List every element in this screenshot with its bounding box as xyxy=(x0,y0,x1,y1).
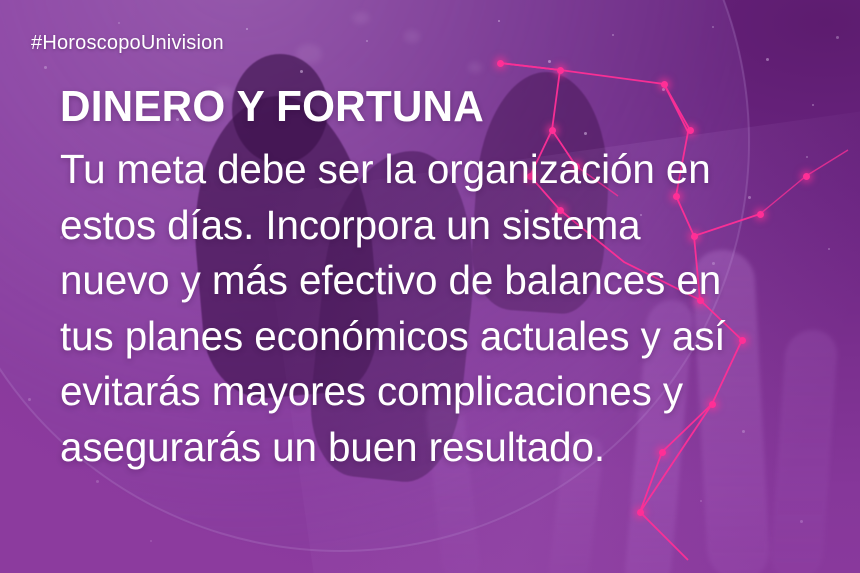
body-line: tus planes económicos actuales y así xyxy=(60,309,838,365)
horoscope-card: #HoroscopoUnivision DINERO Y FORTUNA Tu … xyxy=(0,0,860,573)
page-title: DINERO Y FORTUNA xyxy=(60,83,484,131)
body-line: Tu meta debe ser la organización en xyxy=(60,142,838,198)
body-line: estos días. Incorpora un sistema xyxy=(60,198,838,254)
body-line: nuevo y más efectivo de balances en xyxy=(60,253,838,309)
hashtag-label: #HoroscopoUnivision xyxy=(31,32,224,55)
text-content: #HoroscopoUnivision DINERO Y FORTUNA Tu … xyxy=(0,0,860,573)
horoscope-body: Tu meta debe ser la organización en esto… xyxy=(60,142,838,475)
body-line: asegurarás un buen resultado. xyxy=(60,420,838,476)
body-line: evitarás mayores complicaciones y xyxy=(60,364,838,420)
